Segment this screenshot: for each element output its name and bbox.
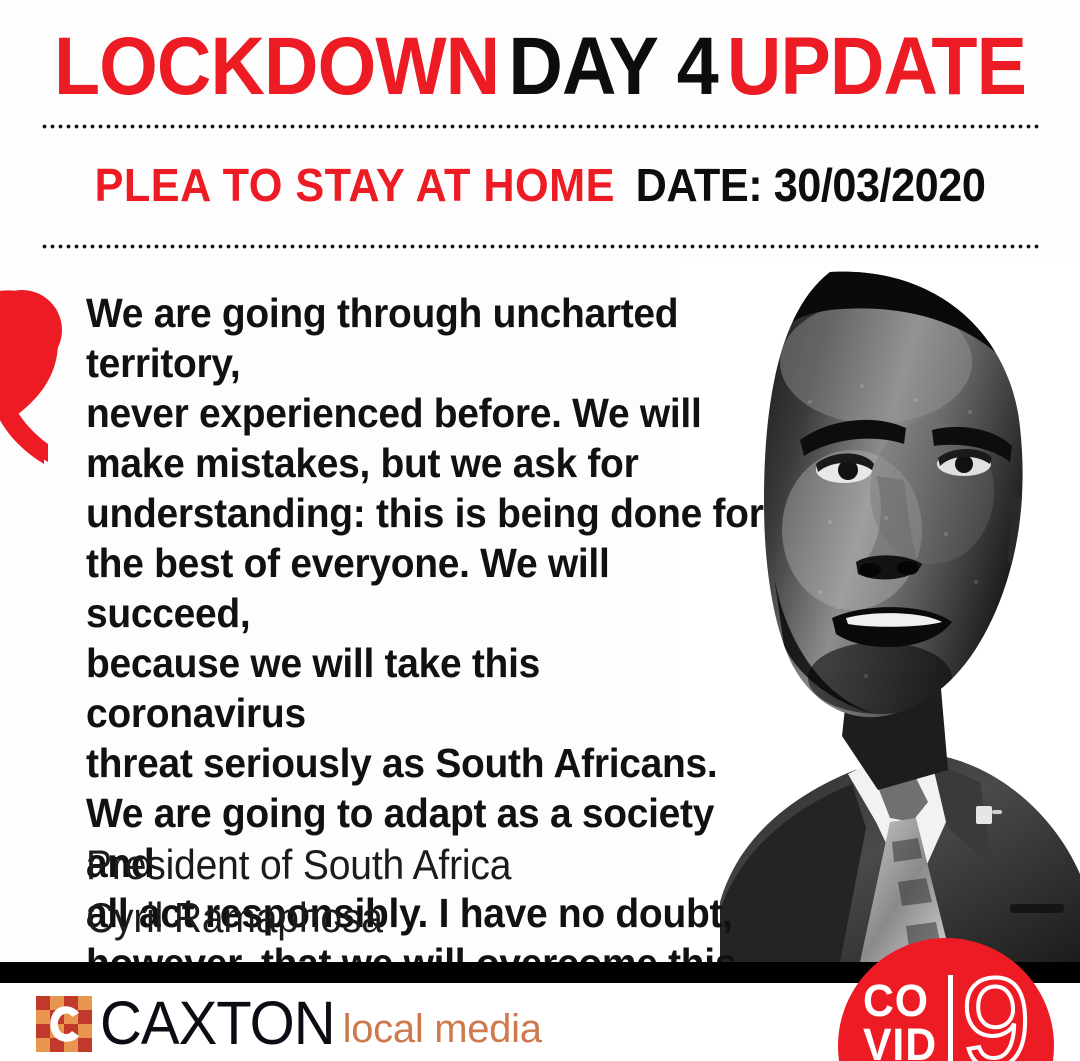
subtitle-date: DATE: 30/03/2020 — [636, 159, 986, 211]
subtitle-row: PLEA TO STAY AT HOMEDATE: 30/03/2020 — [32, 162, 1047, 208]
quote-line: We are going through uncharted territory… — [86, 288, 770, 388]
covid-19-badge: CO VID 9 — [838, 938, 1054, 1061]
dotted-divider-top — [42, 124, 1042, 129]
quote-line: the best of everyone. We will succeed, — [86, 538, 770, 638]
covid-nineteen: 9 — [948, 971, 1031, 1061]
caxton-logo[interactable]: CAXTON local media — [36, 995, 542, 1053]
opening-quote-mark-icon — [0, 286, 64, 466]
covid-line-vid: VID — [863, 1023, 937, 1061]
quote-line: understanding: this is being done for — [86, 488, 770, 538]
quote-line: because we will take this coronavirus — [86, 638, 770, 738]
dotted-divider-bottom — [42, 244, 1042, 249]
attribution: President of South Africa Cyril Ramaphos… — [86, 838, 726, 944]
covid-badge-content: CO VID 9 — [838, 958, 1054, 1061]
lockdown-update-poster: LOCKDOWNDAY 4UPDATE PLEA TO STAY AT HOME… — [0, 0, 1080, 1061]
quote-line: make mistakes, but we ask for — [86, 438, 770, 488]
attribution-name: Cyril Ramaphosa — [86, 891, 681, 944]
covid-word-stack: CO VID — [863, 979, 937, 1061]
attribution-title: President of South Africa — [86, 838, 681, 891]
caxton-c-logo-icon — [36, 996, 92, 1052]
covid-digit-one — [948, 975, 953, 1061]
covid-line-co: CO — [863, 979, 937, 1023]
subtitle-plea: PLEA TO STAY AT HOME — [95, 159, 615, 211]
quote-line: never experienced before. We will — [86, 388, 770, 438]
caxton-wordmark: CAXTON — [100, 993, 335, 1054]
covid-digit-nine: 9 — [961, 971, 1031, 1061]
caxton-tagline: local media — [343, 1009, 542, 1053]
headline: LOCKDOWNDAY 4UPDATE — [43, 26, 1037, 108]
headline-update: UPDATE — [727, 21, 1026, 112]
headline-lockdown: LOCKDOWN — [54, 21, 499, 112]
quote-line: threat seriously as South Africans. — [86, 738, 770, 788]
headline-day: DAY 4 — [508, 21, 717, 112]
